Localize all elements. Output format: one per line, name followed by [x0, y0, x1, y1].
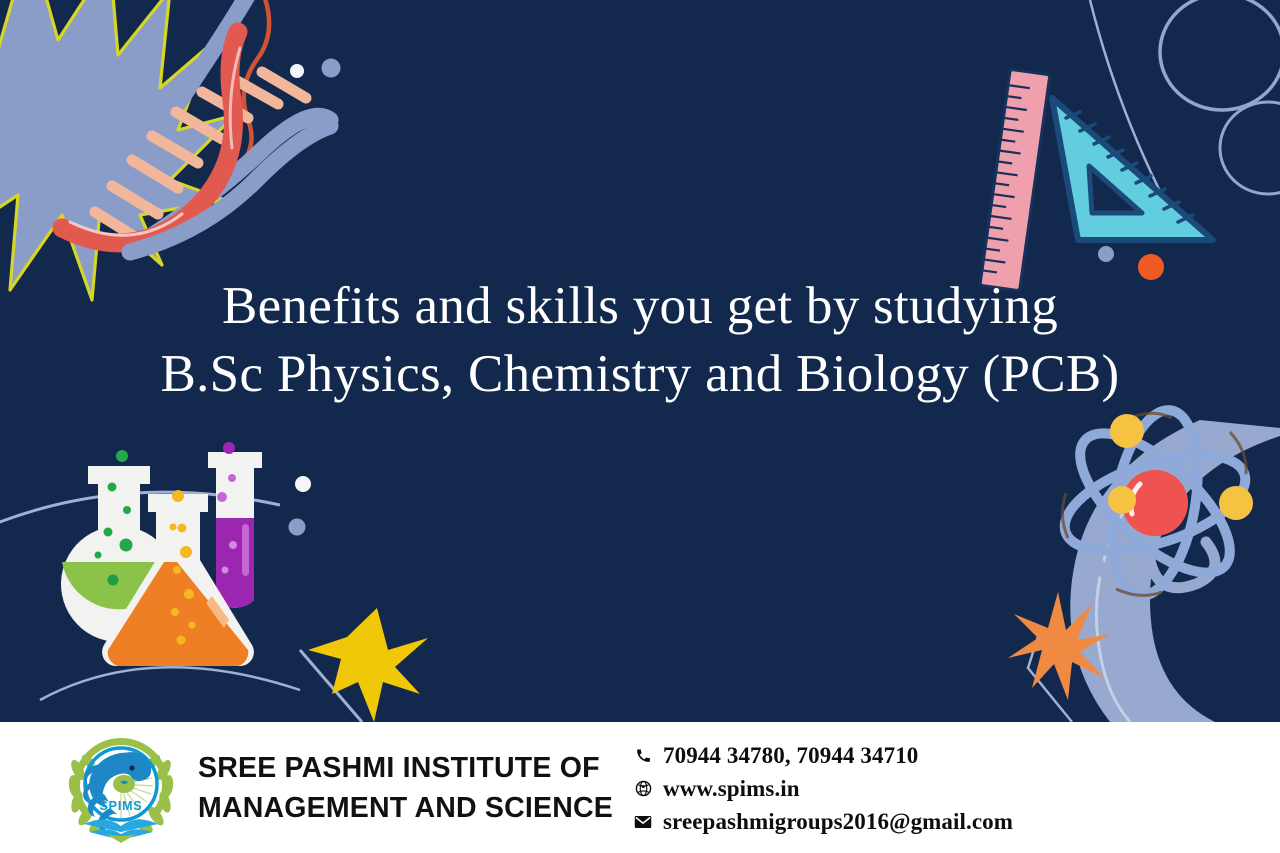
chemistry-flasks-decor	[61, 442, 262, 666]
dot-gray	[322, 59, 341, 78]
title-block: Benefits and skills you get by studying …	[0, 272, 1280, 408]
email-address: sreepashmigroups2016@gmail.com	[663, 809, 1013, 835]
contact-row-email[interactable]: sreepashmigroups2016@gmail.com	[632, 805, 1013, 838]
ruler-decor	[980, 69, 1050, 290]
electron-right	[1219, 486, 1253, 520]
thin-curve-bottom-left	[40, 667, 300, 700]
dot-gray-2	[1098, 246, 1114, 262]
dot-white-flask	[295, 476, 311, 492]
organization-name: SREE PASHMI INSTITUTE OF MANAGEMENT AND …	[198, 748, 628, 828]
contact-info: 70944 34780, 70944 34710 www.spims.in	[632, 737, 1013, 838]
circle-outline-decor-2	[1220, 102, 1280, 194]
spims-logo-icon: SPIMS	[62, 732, 180, 844]
promotional-banner: Benefits and skills you get by studying …	[0, 0, 1280, 853]
phone-icon	[632, 745, 654, 767]
electron-left	[1108, 486, 1136, 514]
contact-row-phone: 70944 34780, 70944 34710	[632, 739, 1013, 772]
title-line-2: B.Sc Physics, Chemistry and Biology (PCB…	[0, 340, 1280, 408]
org-name-line-1: SREE PASHMI INSTITUTE OF	[198, 748, 628, 788]
hero-section: Benefits and skills you get by studying …	[0, 0, 1280, 722]
footer-bar: SPIMS SREE PASHMI INSTITUTE OF MANAGEMEN…	[0, 722, 1280, 853]
svg-text:SPIMS: SPIMS	[100, 799, 143, 813]
set-square-triangle-decor	[1052, 98, 1213, 240]
dot-white-small	[290, 64, 304, 78]
circle-outline-decor	[1160, 0, 1280, 110]
star-yellow-decor	[308, 608, 428, 722]
org-name-line-2: MANAGEMENT AND SCIENCE	[198, 788, 628, 828]
dot-gray-flask	[289, 519, 306, 536]
spims-logo: SPIMS	[62, 732, 180, 844]
email-icon	[632, 811, 654, 833]
website-url: www.spims.in	[663, 776, 800, 802]
title-line-1: Benefits and skills you get by studying	[0, 272, 1280, 340]
electron-top	[1110, 414, 1144, 448]
starburst-gray-decor	[0, 0, 235, 300]
phone-number: 70944 34780, 70944 34710	[663, 743, 918, 769]
contact-row-website[interactable]: www.spims.in	[632, 772, 1013, 805]
globe-icon	[632, 778, 654, 800]
test-tube-purple	[208, 442, 262, 608]
